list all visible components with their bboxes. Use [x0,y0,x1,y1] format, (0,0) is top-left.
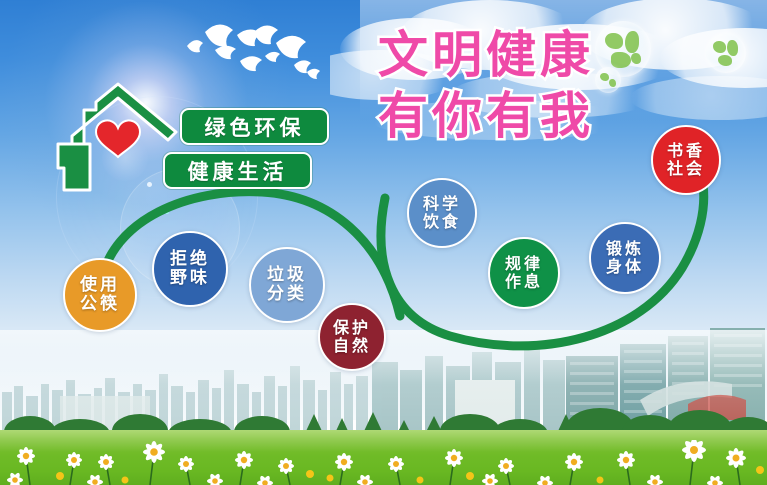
bubble-line-1: 保护 [333,319,371,337]
banner-healthy-life[interactable]: 健康生活 [163,152,312,189]
bubble-line-1: 使用 [80,276,120,295]
bubble-line-2: 作息 [505,273,543,291]
title-line-1: 文明健康 [336,30,636,80]
bubble-waste-sorting[interactable]: 垃圾 分类 [249,247,325,323]
bubble-physical-exercise[interactable]: 锻炼 身体 [589,222,661,294]
bubble-reading-society[interactable]: 书香 社会 [651,125,721,195]
bubble-line-2: 自然 [333,337,371,355]
bubble-line-1: 垃圾 [267,266,307,285]
bubble-regular-routine[interactable]: 规律 作息 [488,237,560,309]
poster-canvas: 文明健康 有你有我 绿色环保 健康生活 使用 公筷 拒绝 野味 垃圾 分类 保护… [0,0,767,485]
bubble-use-serving-chopsticks[interactable]: 使用 公筷 [63,258,137,332]
bubble-scientific-diet[interactable]: 科学 饮食 [407,178,477,248]
daisy-flower-icon [0,440,767,485]
title-line-2: 有你有我 [336,91,636,141]
bubble-line-2: 公筷 [80,295,120,314]
earth-bubble-icon [706,33,746,73]
bubble-line-1: 书香 [667,142,705,160]
bubble-line-1: 规律 [505,255,543,273]
bubble-line-2: 社会 [667,160,705,178]
bubble-line-1: 科学 [423,195,461,213]
page-title: 文明健康 有你有我 [336,30,636,141]
banner-green-eco[interactable]: 绿色环保 [180,108,329,145]
bubble-line-2: 分类 [267,285,307,304]
banner-healthy-life-label: 健康生活 [188,156,288,186]
bubble-line-1: 拒绝 [170,250,210,269]
banner-green-eco-label: 绿色环保 [205,112,305,142]
bubble-line-2: 野味 [170,269,210,288]
bubble-line-1: 锻炼 [606,240,644,258]
bubble-protect-nature[interactable]: 保护 自然 [318,303,386,371]
bubble-refuse-wild-game[interactable]: 拒绝 野味 [152,231,228,307]
bubble-line-2: 饮食 [423,213,461,231]
bubble-line-2: 身体 [606,258,644,276]
flying-doves-icon [181,20,321,90]
